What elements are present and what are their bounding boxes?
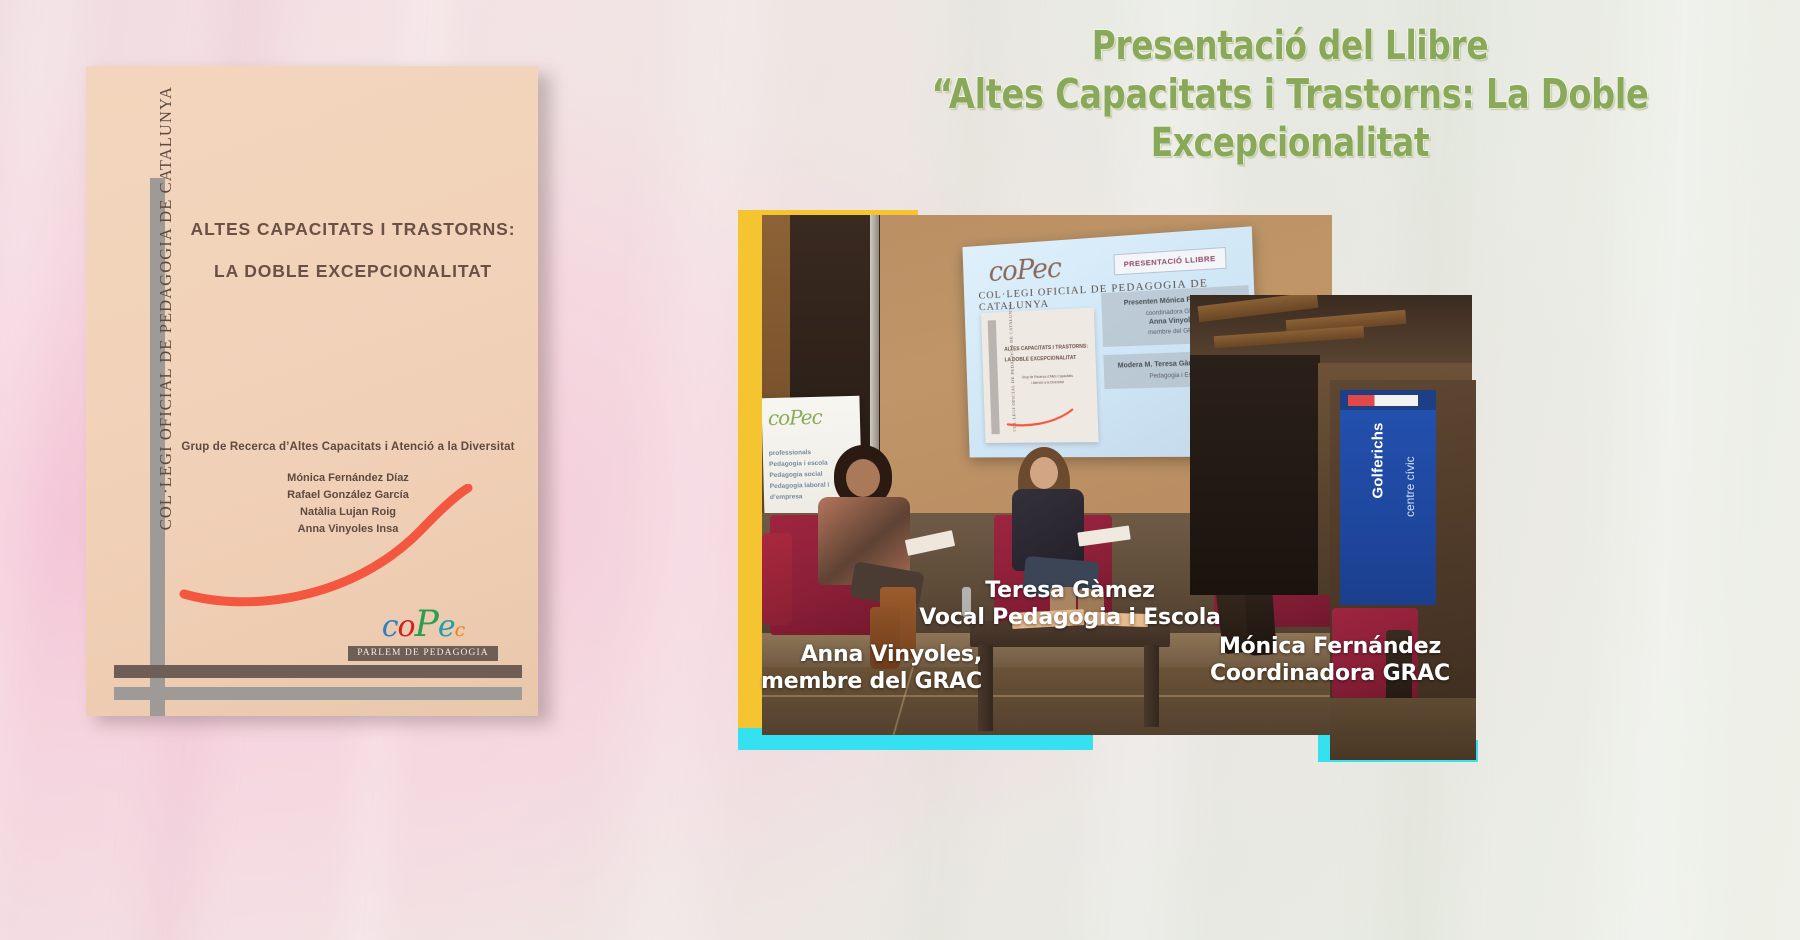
book-research-group: Grup de Recerca d’Altes Capacitats i Ate…: [168, 441, 528, 453]
banner-subtitle: centre cívic: [1403, 397, 1417, 517]
photo-bottom-right: Golferichs centre cívic: [1330, 380, 1476, 760]
logo-letter-c1: c: [382, 609, 398, 644]
book-title-line-1: ALTES CAPACITATS I TRASTORNS:: [188, 208, 518, 250]
slide-mini-book-cover: COL·LEGI OFICIAL DE PEDAGOGIA DE CATALUN…: [981, 308, 1099, 443]
title-line-3: Excepcionalitat: [888, 119, 1692, 167]
copec-logo-mark: coPec: [348, 607, 498, 643]
chair-arm: [762, 533, 792, 625]
banner-name: Golferichs: [1370, 401, 1387, 521]
title-line-1: Presentació del Llibre: [888, 22, 1692, 70]
logo-letter-p: P: [415, 604, 438, 645]
caption-monica-fernandez: Mónica Fernández Coordinadora GRAC: [1195, 634, 1465, 688]
floor: [1330, 698, 1476, 760]
golferichs-banner: Golferichs centre cívic: [1340, 390, 1436, 605]
slide-mini-spine: [988, 320, 1000, 434]
slide-mini-authors: Grup de Recerca d’Altes Capacitats i Ate…: [1005, 373, 1091, 387]
poster-title: Presentació del Llibre “Altes Capacitats…: [800, 22, 1780, 167]
book-title: ALTES CAPACITATS I TRASTORNS: LA DOBLE E…: [188, 208, 518, 292]
book-curve-graphic: [176, 484, 516, 624]
dark-curtain: [1190, 355, 1320, 595]
slide-mini-title-line-2: LA DOBLE EXCEPCIONALITAT: [1004, 352, 1090, 366]
title-line-2: “Altes Capacitats i Trastorns: La Doble: [888, 70, 1692, 119]
book-cover: COL·LEGI OFICIAL DE PEDAGOGIA DE CATALUN…: [86, 66, 538, 716]
copec-logo: coPec PARLEM DE PEDAGOGIA: [348, 607, 498, 661]
head: [1030, 457, 1058, 489]
photo-br-scene: Golferichs centre cívic: [1330, 380, 1476, 760]
book-footer-bar-dark: [114, 665, 522, 678]
poster-canvas: Presentació del Llibre “Altes Capacitats…: [0, 0, 1800, 940]
slide-mini-curve: [1004, 405, 1086, 428]
book-title-line-2: LA DOBLE EXCEPCIONALITAT: [188, 250, 518, 292]
copec-logo-tagline: PARLEM DE PEDAGOGIA: [348, 646, 498, 661]
caption-anna-vinyoles: Anna Vinyoles, membre del GRAC: [752, 642, 982, 696]
logo-letter-e: e: [438, 609, 455, 644]
slide-mini-title: ALTES CAPACITATS I TRASTORNS: LA DOBLE E…: [1004, 342, 1090, 366]
logo-letter-o: o: [398, 609, 415, 644]
head: [846, 459, 880, 497]
logo-letter-c2: c: [455, 619, 465, 641]
caption-teresa-gamez: Teresa Gàmez Vocal Pedagogia i Escola: [905, 578, 1235, 632]
photo-collage: coPec COL·LEGI OFICIAL DE PEDAGOGIA DE C…: [730, 200, 1490, 790]
rollup-logo: coPec: [768, 405, 822, 430]
table-leg: [1144, 645, 1159, 727]
book-footer-bar-grey: [114, 687, 522, 700]
